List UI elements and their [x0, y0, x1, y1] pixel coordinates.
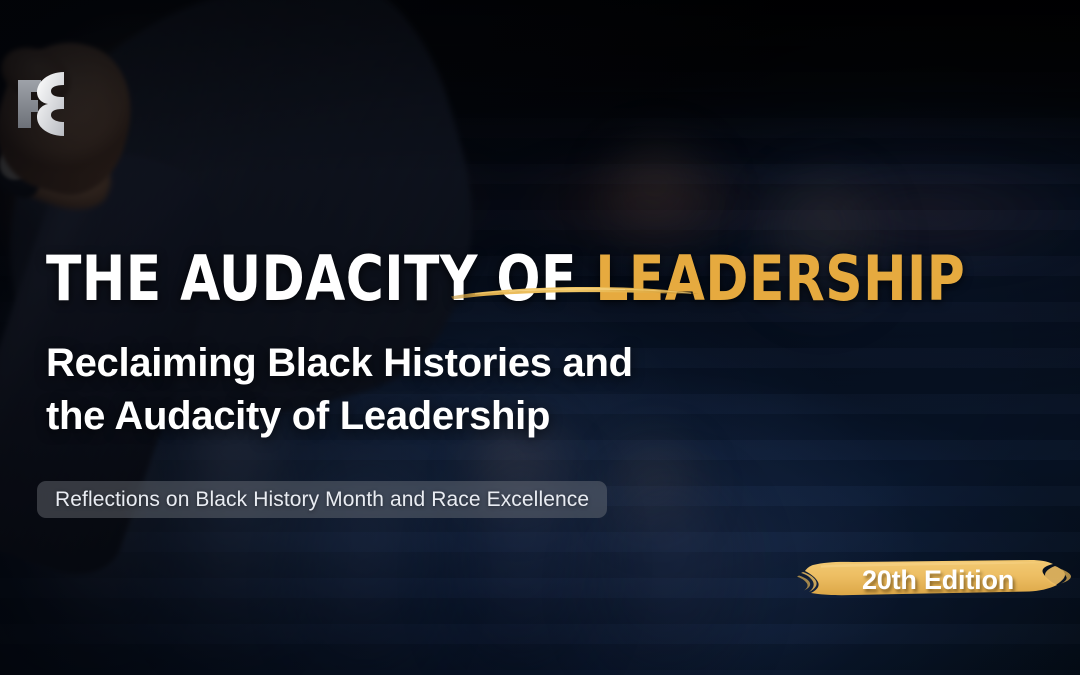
rc-monogram-logo-icon[interactable] — [8, 58, 72, 144]
subtitle-line-2: the Audacity of Leadership — [46, 390, 746, 443]
hero-banner: THE AUDACITY OF LEADERSHIP — [0, 0, 1080, 675]
edition-badge: 20th Edition — [795, 553, 1075, 607]
caption-text: Reflections on Black History Month and R… — [55, 488, 589, 512]
page-subtitle: Reclaiming Black Histories and the Audac… — [46, 337, 746, 443]
caption-bar: Reflections on Black History Month and R… — [37, 481, 607, 518]
edition-badge-label: 20th Edition — [795, 553, 1075, 607]
gold-brush-underline-icon — [449, 282, 701, 306]
subtitle-line-1: Reclaiming Black Histories and — [46, 337, 746, 390]
